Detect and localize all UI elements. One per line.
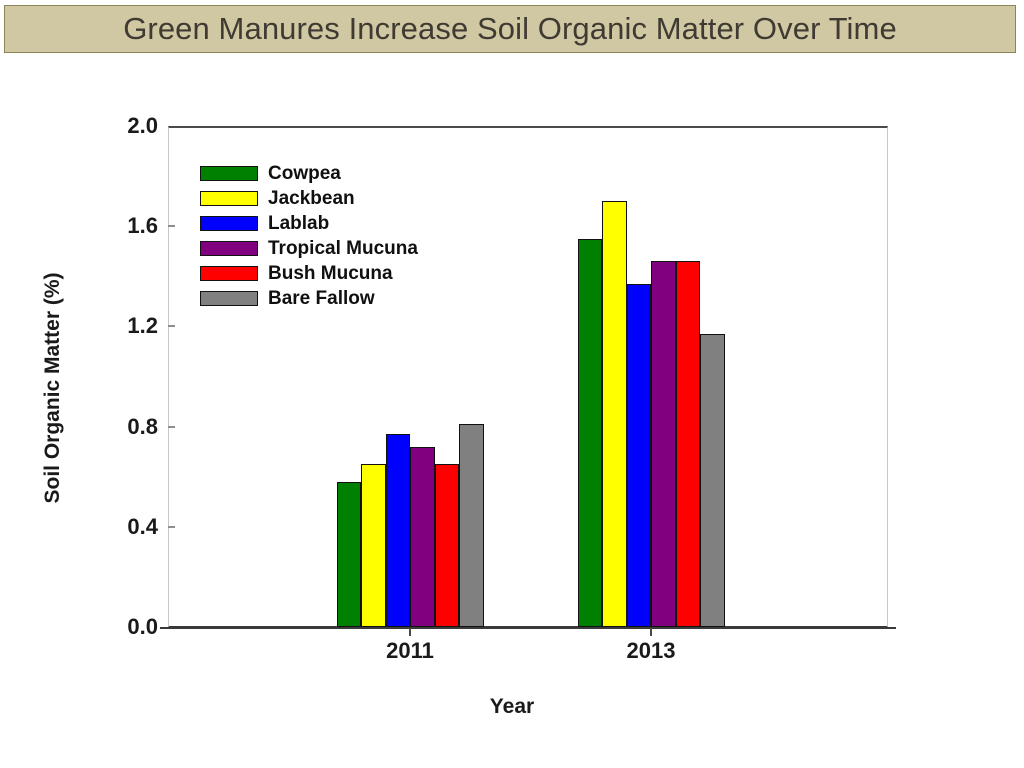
legend-label: Tropical Mucuna xyxy=(268,238,418,260)
bar-lablab-2013 xyxy=(627,284,652,627)
x-axis-tick-label-2013: 2013 xyxy=(571,638,731,664)
x-axis-line xyxy=(160,627,896,629)
bar-bare-fallow-2011 xyxy=(459,424,484,627)
legend-item-jackbean: Jackbean xyxy=(200,186,500,211)
bar-jackbean-2013 xyxy=(602,201,627,627)
legend-item-lablab: Lablab xyxy=(200,211,500,236)
y-axis-tick-label: 0.4 xyxy=(100,514,158,540)
bar-lablab-2011 xyxy=(386,434,411,627)
bar-cowpea-2011 xyxy=(337,482,362,627)
bar-bare-fallow-2013 xyxy=(700,334,725,627)
legend-swatch-icon xyxy=(200,291,258,306)
legend-label: Lablab xyxy=(268,213,329,235)
legend-label: Jackbean xyxy=(268,188,355,210)
legend-item-bush-mucuna: Bush Mucuna xyxy=(200,261,500,286)
y-axis-tick-label: 2.0 xyxy=(100,113,158,139)
y-axis-tick-label: 0.0 xyxy=(100,614,158,640)
y-axis-tick-labels: 0.00.40.81.21.62.0 xyxy=(96,60,158,768)
x-axis-tick-mark xyxy=(650,628,652,636)
y-axis-tick-mark xyxy=(168,426,175,428)
y-axis-tick-label: 1.2 xyxy=(100,313,158,339)
bar-bush-mucuna-2011 xyxy=(435,464,460,627)
y-axis-tick-mark xyxy=(168,325,175,327)
x-axis-tick-label-2011: 2011 xyxy=(330,638,490,664)
y-axis-tick-label: 0.8 xyxy=(100,414,158,440)
legend-item-cowpea: Cowpea xyxy=(200,161,500,186)
legend-swatch-icon xyxy=(200,191,258,206)
bar-tropical-mucuna-2011 xyxy=(410,447,435,627)
chart-figure: 0.00.40.81.21.62.0 Soil Organic Matter (… xyxy=(0,60,1024,768)
legend-swatch-icon xyxy=(200,266,258,281)
legend-label: Bush Mucuna xyxy=(268,263,393,285)
y-axis-title: Soil Organic Matter (%) xyxy=(41,178,65,598)
x-axis-tick-mark xyxy=(409,628,411,636)
title-banner: Green Manures Increase Soil Organic Matt… xyxy=(4,5,1016,53)
legend-swatch-icon xyxy=(200,166,258,181)
legend-label: Cowpea xyxy=(268,163,341,185)
bar-tropical-mucuna-2013 xyxy=(651,261,676,627)
legend-item-tropical-mucuna: Tropical Mucuna xyxy=(200,236,500,261)
bar-jackbean-2011 xyxy=(361,464,386,627)
legend-item-bare-fallow: Bare Fallow xyxy=(200,286,500,311)
chart-legend: CowpeaJackbeanLablabTropical MucunaBush … xyxy=(200,161,500,311)
legend-swatch-icon xyxy=(200,241,258,256)
legend-swatch-icon xyxy=(200,216,258,231)
page-title: Green Manures Increase Soil Organic Matt… xyxy=(123,11,897,47)
bar-cowpea-2013 xyxy=(578,239,603,627)
y-axis-tick-mark xyxy=(168,225,175,227)
legend-label: Bare Fallow xyxy=(268,288,375,310)
x-axis-title: Year xyxy=(0,695,1024,719)
y-axis-tick-label: 1.6 xyxy=(100,213,158,239)
bar-bush-mucuna-2013 xyxy=(676,261,701,627)
y-axis-tick-mark xyxy=(168,526,175,528)
